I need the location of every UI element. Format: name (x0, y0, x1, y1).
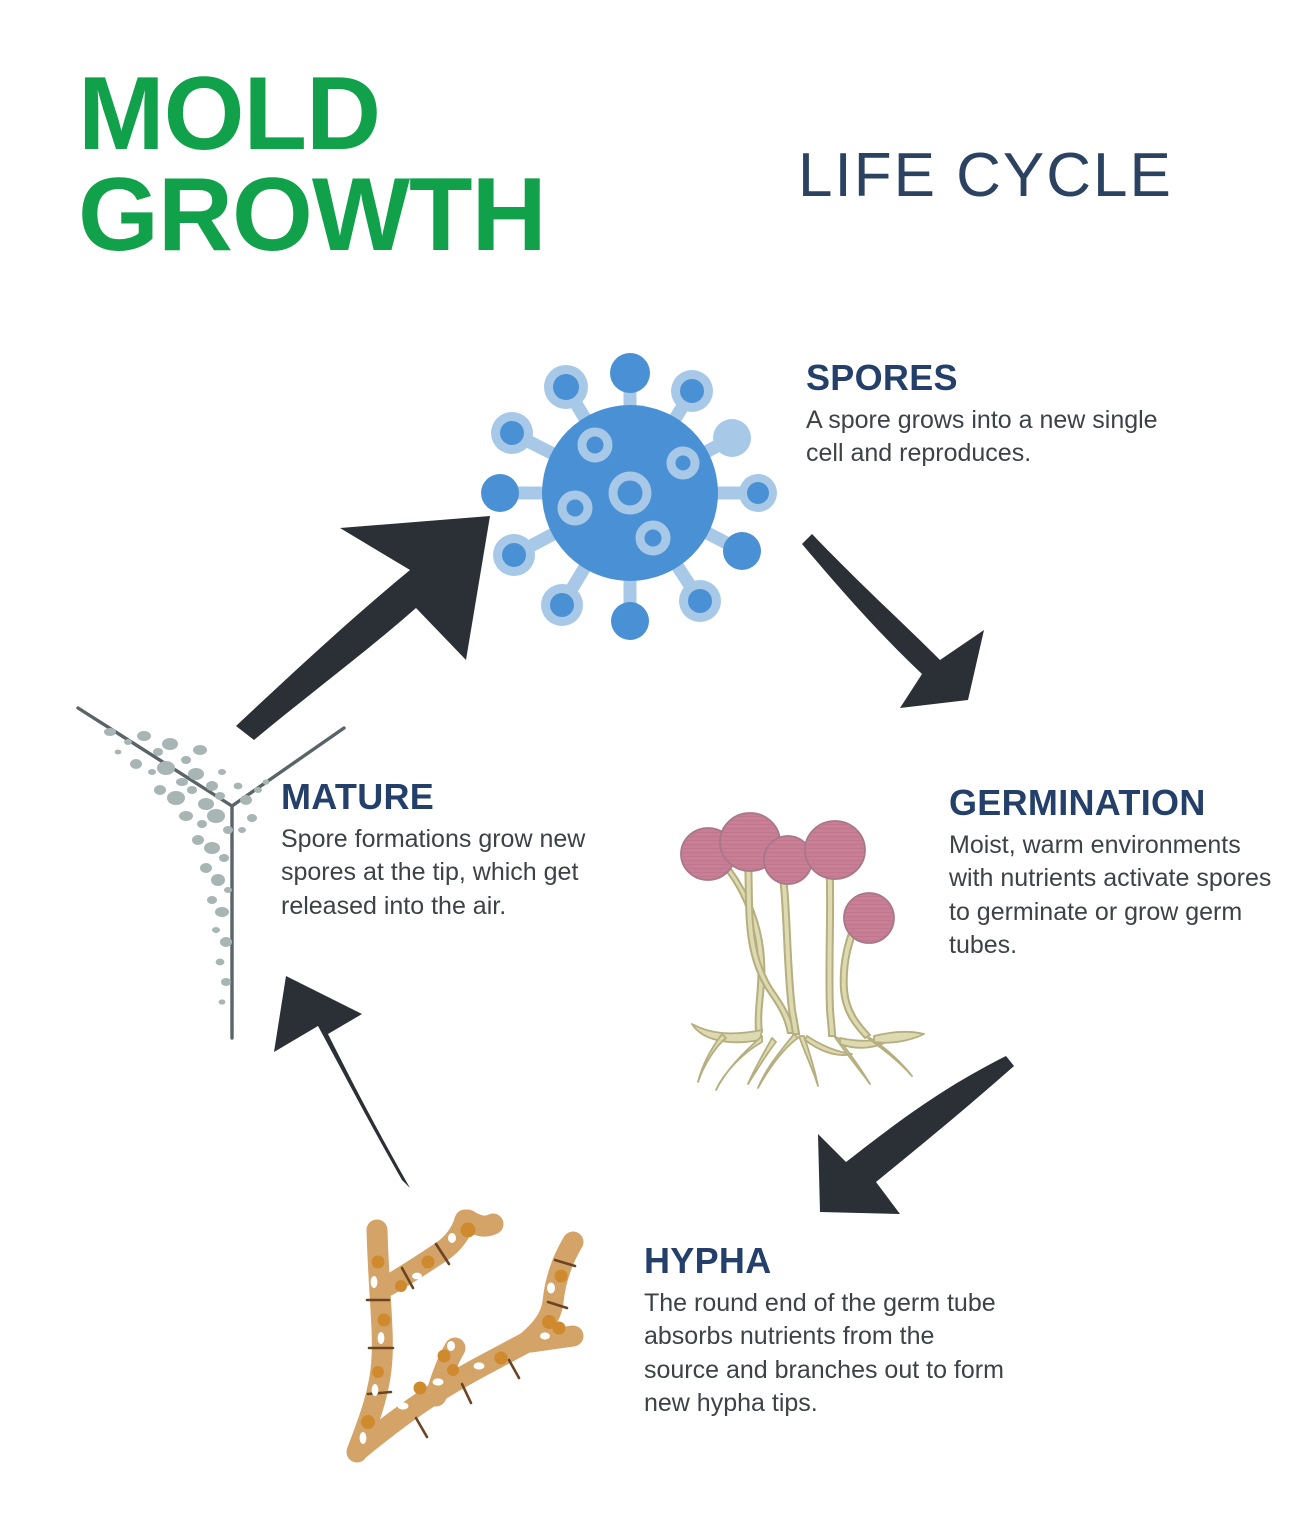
step-block-spores: SPORES A spore grows into a new single c… (806, 357, 1166, 471)
step-heading-hypha: HYPHA (644, 1240, 1014, 1282)
spore-virus-icon (470, 333, 790, 653)
germination-illustration (662, 808, 942, 1098)
page-title: MOLD GROWTH (78, 64, 546, 266)
page-subtitle: LIFE CYCLE (798, 140, 1173, 211)
spore-illustration (470, 333, 790, 653)
step-block-hypha: HYPHA The round end of the germ tube abs… (644, 1240, 1014, 1420)
step-body-mature: Spore formations grow new spores at the … (281, 823, 591, 923)
step-block-mature: MATURE Spore formations grow new spores … (281, 776, 591, 923)
arrow-spores-to-germination (802, 534, 984, 708)
step-heading-germination: GERMINATION (949, 782, 1289, 824)
step-heading-mature: MATURE (281, 776, 591, 818)
step-body-spores: A spore grows into a new single cell and… (806, 404, 1166, 471)
branching-hypha-icon (305, 1190, 635, 1510)
step-body-hypha: The round end of the germ tube absorbs n… (644, 1287, 1014, 1420)
infographic-canvas: MOLD GROWTH LIFE CYCLE (0, 0, 1313, 1536)
step-heading-spores: SPORES (806, 357, 1166, 399)
hypha-illustration (305, 1190, 635, 1510)
step-body-germination: Moist, warm environments with nutrients … (949, 829, 1289, 962)
step-block-germination: GERMINATION Moist, warm environments wit… (949, 782, 1289, 962)
sporangiophore-icon (662, 808, 942, 1098)
